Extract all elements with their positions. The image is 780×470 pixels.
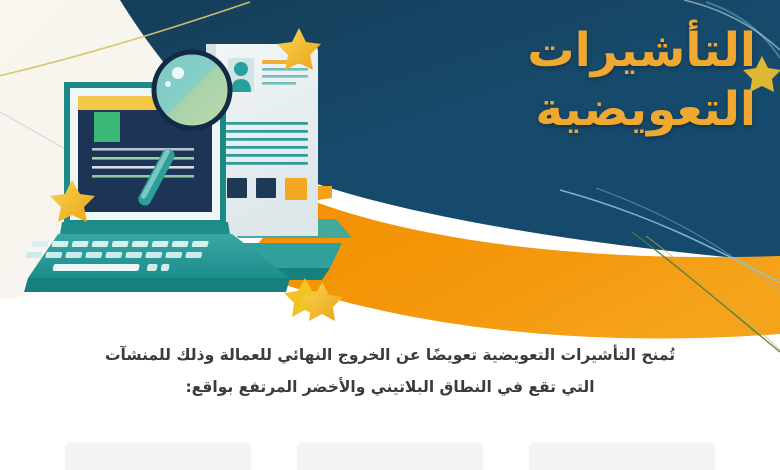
screen-line-1 (92, 148, 194, 151)
poster-body-text: تُمنح التأشيرات التعويضية تعويضًا عن الخ… (100, 340, 680, 404)
keyboard-row-2 (25, 252, 202, 258)
title-line-2: التعويضية (426, 81, 756, 140)
doc-body-line-4 (226, 146, 308, 149)
laptop-base-edge (24, 278, 290, 292)
bottom-card-1 (529, 443, 715, 470)
body-line-2: التي تقع في النطاق البلاتيني والأخضر الم… (100, 372, 680, 404)
doc-header-line-2 (262, 68, 308, 71)
bottom-cards-row (0, 443, 780, 470)
screen-green-block (94, 112, 120, 142)
poster-title: التأشيرات التعويضية (426, 22, 756, 140)
poster-root: التأشيرات التعويضية تُمنح التأشيرات التع… (0, 0, 780, 470)
doc-body-line-6 (226, 162, 308, 165)
doc-swatch-3 (285, 178, 307, 200)
doc-header-line-3 (262, 75, 308, 78)
doc-swatch-2 (256, 178, 276, 198)
screen-line-4 (92, 175, 194, 178)
title-line-1: التأشيرات (426, 22, 756, 81)
doc-body-line-2 (226, 130, 308, 133)
keyboard-key-right-1 (146, 264, 157, 271)
keyboard-row-1 (31, 241, 208, 247)
avatar-icon (234, 62, 248, 76)
magnifier-glint-1 (172, 67, 184, 79)
keyboard-spacebar (52, 264, 139, 271)
doc-body-line-5 (226, 154, 308, 157)
laptop-hinge (60, 222, 230, 234)
star-bottom-pair (284, 278, 343, 321)
magnifier-lens (154, 52, 230, 128)
doc-orange-chip (318, 186, 332, 200)
screen-line-3 (92, 166, 194, 169)
doc-body-line-1 (226, 122, 308, 125)
body-line-1: تُمنح التأشيرات التعويضية تعويضًا عن الخ… (100, 340, 680, 372)
doc-body-line-3 (226, 138, 308, 141)
bottom-card-3 (65, 443, 251, 470)
screen-line-2 (92, 157, 194, 160)
doc-header-line-4 (262, 82, 296, 85)
bottom-card-2 (297, 443, 483, 470)
doc-swatch-1 (227, 178, 247, 198)
magnifier-glint-2 (165, 81, 171, 87)
